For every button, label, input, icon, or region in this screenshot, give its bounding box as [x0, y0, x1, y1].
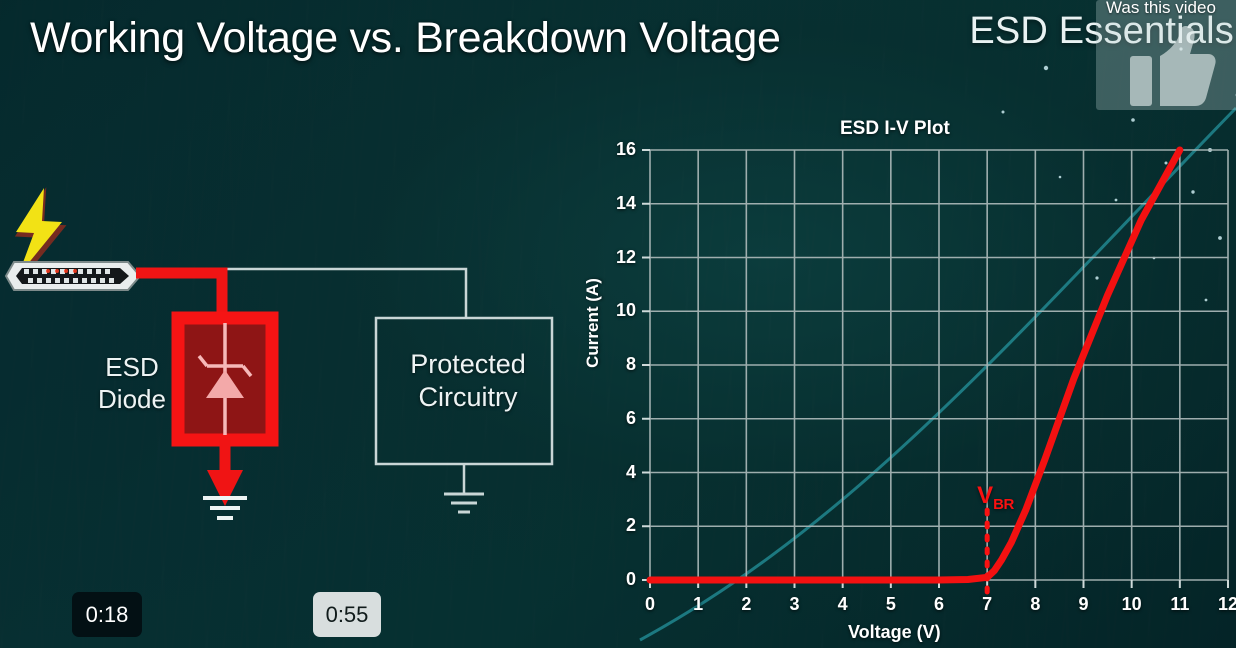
- x-tick-label: 11: [1165, 594, 1195, 615]
- esd-iv-chart: ESD I-V Plot Current (A) Voltage (V) 024…: [578, 108, 1236, 648]
- x-tick-label: 6: [924, 594, 954, 615]
- breakdown-voltage-label: VBR: [977, 482, 1014, 513]
- y-tick-label: 8: [602, 354, 636, 375]
- x-tick-label: 12: [1213, 594, 1236, 615]
- x-tick-label: 9: [1069, 594, 1099, 615]
- x-tick-label: 8: [1020, 594, 1050, 615]
- protected-circuitry-label: Protected Circuitry: [378, 348, 558, 414]
- y-tick-label: 2: [602, 515, 636, 536]
- x-tick-label: 5: [876, 594, 906, 615]
- x-tick-label: 4: [828, 594, 858, 615]
- x-tick-label: 2: [731, 594, 761, 615]
- x-tick-label: 3: [780, 594, 810, 615]
- circuit-diagram: ESD Diode Protected Circuitry: [0, 170, 600, 570]
- esd-diode-block: [178, 318, 272, 440]
- vbr-main-text: V: [977, 482, 993, 509]
- y-tick-label: 0: [602, 569, 636, 590]
- y-tick-label: 4: [602, 462, 636, 483]
- page-title: Working Voltage vs. Breakdown Voltage: [30, 14, 781, 63]
- survey-question-text: Was this video: [1106, 0, 1216, 18]
- timestamp-total[interactable]: 0:55: [313, 592, 381, 637]
- wire-esd-path: [136, 273, 222, 318]
- x-tick-label: 0: [635, 594, 665, 615]
- plot-area: [578, 108, 1236, 648]
- x-tick-label: 1: [683, 594, 713, 615]
- esd-current-arrow: [207, 470, 243, 506]
- esd-diode-label: ESD Diode: [84, 352, 180, 415]
- ground-symbol-icon-protected: [444, 494, 484, 512]
- y-tick-marks: [642, 150, 650, 580]
- thumbs-up-icon[interactable]: [1130, 26, 1216, 106]
- x-tick-label: 7: [972, 594, 1002, 615]
- vbr-subscript-text: BR: [993, 496, 1014, 513]
- x-tick-label: 10: [1117, 594, 1147, 615]
- slide-canvas: Working Voltage vs. Breakdown Voltage ES…: [0, 0, 1236, 648]
- y-tick-label: 10: [602, 300, 636, 321]
- video-survey-overlay[interactable]: Was this video: [1096, 0, 1236, 110]
- y-tick-label: 14: [602, 193, 636, 214]
- y-tick-label: 16: [602, 139, 636, 160]
- timestamp-current[interactable]: 0:18: [72, 592, 142, 637]
- hdmi-connector-icon: [6, 262, 140, 290]
- y-tick-label: 6: [602, 408, 636, 429]
- y-tick-label: 12: [602, 247, 636, 268]
